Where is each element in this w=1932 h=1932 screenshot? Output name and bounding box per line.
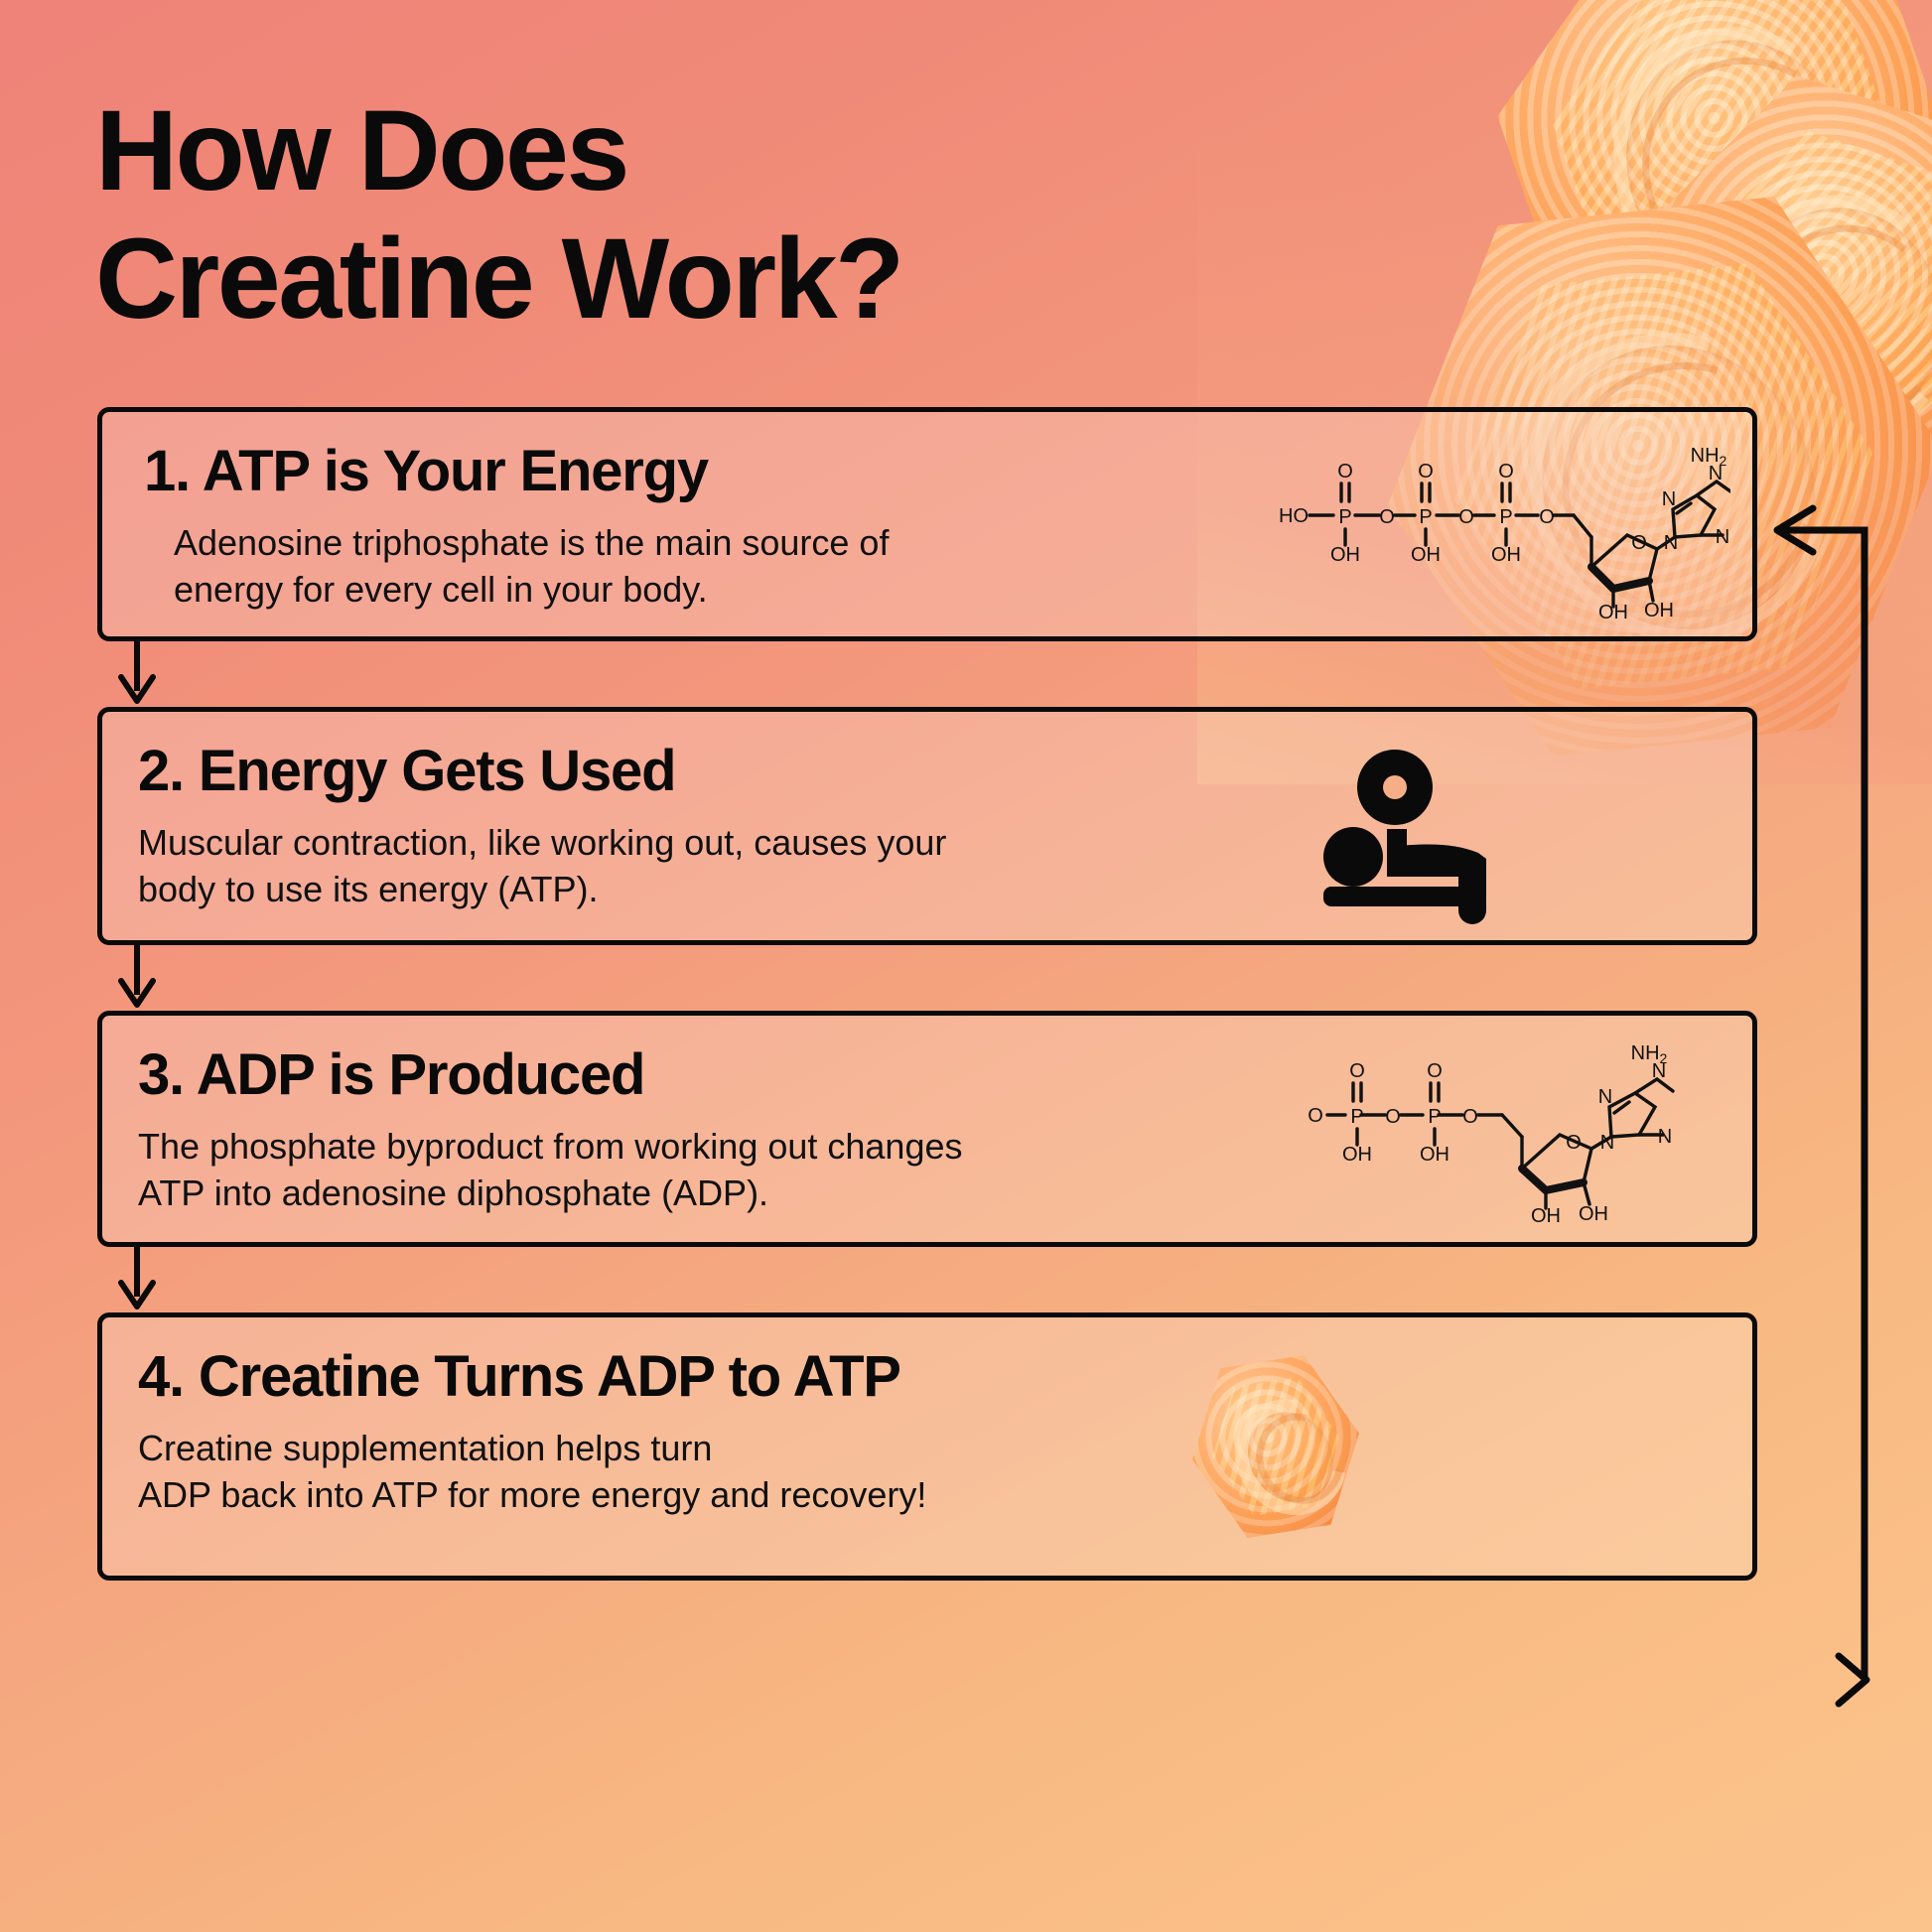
svg-text:N: N xyxy=(1658,1126,1672,1148)
svg-text:HO: HO xyxy=(1279,505,1309,527)
svg-text:P: P xyxy=(1350,1106,1363,1128)
svg-text:OH: OH xyxy=(1531,1205,1561,1226)
svg-text:O: O xyxy=(1418,461,1434,483)
page-title-line-2: Creatine Work? xyxy=(95,215,1168,344)
svg-text:O: O xyxy=(1539,506,1555,528)
step-3-body: The phosphate byproduct from working out… xyxy=(138,1124,1230,1217)
svg-text:NH2: NH2 xyxy=(1691,445,1727,469)
svg-text:O: O xyxy=(1349,1060,1365,1082)
arrow-step2-to-step3 xyxy=(97,945,1757,1011)
infographic-canvas: How Does Creatine Work? 1. ATP is Your E… xyxy=(0,0,1932,1932)
page-title-line-1: How Does xyxy=(95,87,1168,215)
step-card-2[interactable]: 2. Energy Gets Used Muscular contraction… xyxy=(97,707,1757,945)
svg-text:O: O xyxy=(1566,1132,1582,1154)
svg-text:OH: OH xyxy=(1644,600,1674,619)
svg-text:O: O xyxy=(1385,1106,1401,1128)
svg-text:O: O xyxy=(1498,461,1514,483)
process-flow: 1. ATP is Your Energy Adenosine triphosp… xyxy=(97,407,1757,1581)
svg-text:O: O xyxy=(1337,461,1353,483)
step-4-body: Creatine supplementation helps turn ADP … xyxy=(138,1426,1230,1519)
bench-press-icon xyxy=(1319,748,1518,924)
svg-text:N: N xyxy=(1600,1132,1614,1154)
svg-text:O: O xyxy=(1427,1060,1443,1082)
svg-text:N: N xyxy=(1664,532,1678,554)
atp-molecule-diagram: OOO HO PPP OOO OHOHOH O OHOH NN NN NH2 xyxy=(1264,440,1730,619)
svg-text:OH: OH xyxy=(1598,602,1628,619)
svg-text:OH: OH xyxy=(1342,1144,1372,1166)
step-card-3[interactable]: 3. ADP is Produced The phosphate byprodu… xyxy=(97,1011,1757,1247)
adp-molecule-diagram: OO O PP OO OHOH O OHOH NN NN NH2 xyxy=(1300,1037,1707,1226)
page-title: How Does Creatine Work? xyxy=(95,87,1168,344)
svg-text:O: O xyxy=(1462,1106,1478,1128)
svg-text:OH: OH xyxy=(1491,544,1521,566)
svg-text:OH: OH xyxy=(1330,544,1360,566)
step-4-content: 4. Creatine Turns ADP to ATP Creatine su… xyxy=(102,1317,1752,1518)
step-card-4[interactable]: 4. Creatine Turns ADP to ATP Creatine su… xyxy=(97,1312,1757,1581)
svg-text:O: O xyxy=(1308,1105,1323,1127)
svg-text:P: P xyxy=(1419,506,1432,528)
svg-text:P: P xyxy=(1499,506,1512,528)
svg-text:O: O xyxy=(1458,506,1474,528)
arrow-step1-to-step2 xyxy=(97,641,1757,707)
svg-text:O: O xyxy=(1379,506,1395,528)
svg-text:O: O xyxy=(1631,532,1647,554)
arrow-step3-to-step4 xyxy=(97,1247,1757,1312)
svg-text:OH: OH xyxy=(1420,1144,1449,1166)
step-1-body: Adenosine triphosphate is the main sourc… xyxy=(174,520,1266,614)
gummy-photo-1 xyxy=(1464,0,1932,417)
svg-text:OH: OH xyxy=(1411,544,1441,566)
svg-text:N: N xyxy=(1662,488,1676,510)
step-2-body: Muscular contraction, like working out, … xyxy=(138,820,1230,913)
svg-text:N: N xyxy=(1598,1086,1612,1108)
svg-text:N: N xyxy=(1716,526,1729,548)
svg-text:NH2: NH2 xyxy=(1631,1042,1668,1066)
svg-text:P: P xyxy=(1338,506,1351,528)
step-card-1[interactable]: 1. ATP is Your Energy Adenosine triphosp… xyxy=(97,407,1757,641)
step-4-title: 4. Creatine Turns ADP to ATP xyxy=(138,1347,1713,1408)
svg-text:P: P xyxy=(1428,1106,1441,1128)
svg-text:OH: OH xyxy=(1579,1203,1608,1225)
